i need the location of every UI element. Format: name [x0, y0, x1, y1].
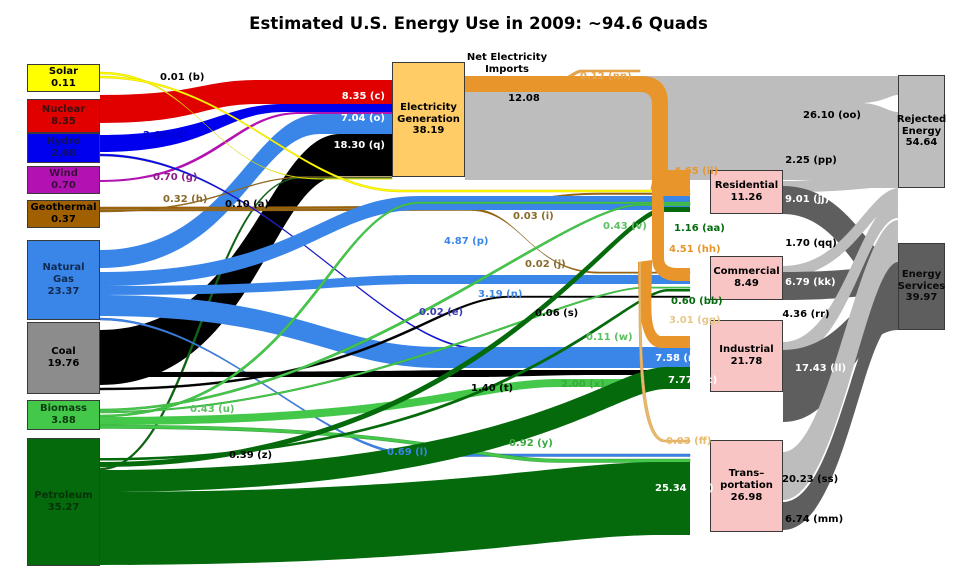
flow-coal-industrial [100, 370, 690, 377]
flow-label-c: 8.35 (c) [342, 91, 385, 102]
node-geothermal[interactable]: Geothermal 0.37 [27, 200, 100, 228]
node-commercial-label: Commercial 8.49 [713, 266, 779, 290]
flow-label-w: 0.11 (w) [586, 332, 633, 343]
node-wind-label: Wind 0.70 [49, 168, 78, 192]
node-transportation[interactable]: Trans– portation 26.98 [710, 440, 783, 532]
node-solar[interactable]: Solar 0.11 [27, 64, 100, 92]
flow-label-gg: 3.01 (gg) [669, 315, 721, 326]
flow-label-y: 0.92 (y) [509, 438, 553, 449]
flow-label-z: 0.39 (z) [229, 450, 272, 461]
node-geothermal-label: Geothermal 0.37 [30, 202, 96, 226]
node-transportation-label: Trans– portation 26.98 [720, 468, 773, 503]
node-residential-label: Residential 11.26 [715, 180, 778, 204]
node-biomass[interactable]: Biomass 3.88 [27, 400, 100, 430]
flow-label-oo: 26.10 (oo) [803, 110, 861, 121]
flow-label-b: 0.01 (b) [160, 72, 204, 83]
node-commercial[interactable]: Commercial 8.49 [710, 256, 783, 300]
flow-label-m: 7.58 (m) [655, 353, 703, 364]
node-nuclear[interactable]: Nuclear 8.35 [27, 99, 100, 133]
node-energy-services[interactable]: Energy Services 39.97 [898, 243, 945, 330]
flow-label-hh: 4.51 (hh) [669, 244, 721, 255]
flow-label-q: 18.30 (q) [334, 140, 385, 151]
flow-label-dd: 25.34 (dd) [655, 483, 714, 494]
flow-label-ss: 20.23 (ss) [782, 474, 838, 485]
flow-label-o: 7.04 (o) [341, 113, 385, 124]
node-rejected-energy-label: Rejected Energy 54.64 [897, 114, 946, 149]
flow-label-mm: 6.74 (mm) [785, 514, 843, 525]
node-coal-label: Coal 19.76 [48, 346, 80, 370]
flow-label-h: 0.32 (h) [163, 194, 207, 205]
flow-label-g: 0.70 (g) [153, 172, 197, 183]
node-nuclear-label: Nuclear 8.35 [42, 104, 85, 128]
node-hydro-label: Hydro 2.68 [47, 136, 81, 160]
flow-label-ll: 17.43 (ll) [795, 363, 846, 374]
node-industrial-label: Industrial 21.78 [719, 344, 773, 368]
node-hydro[interactable]: Hydro 2.68 [27, 133, 100, 163]
node-petroleum-label: Petroleum 35.27 [34, 490, 92, 514]
flow-label-t: 1.40 (t) [471, 383, 513, 394]
node-rejected-energy[interactable]: Rejected Energy 54.64 [898, 75, 945, 188]
node-natural-gas-label: Natural Gas 23.37 [42, 262, 84, 297]
flow-label-l: 0.69 (l) [387, 447, 428, 458]
flow-label-nn: 0.12 (nn) [580, 71, 632, 82]
flow-label-rr: 4.36 (rr) [782, 309, 829, 320]
flow-label-d: 2.66 (d) [143, 130, 187, 141]
flow-label-j: 0.02 (j) [525, 259, 566, 270]
flow-label-bb: 0.60 (bb) [671, 296, 723, 307]
flow-label-p: 4.87 (p) [444, 236, 488, 247]
flow-label-v: 0.43 (v) [603, 221, 647, 232]
flow-label-cc: 7.77 (cc) [668, 375, 717, 386]
flow-label-u: 0.43 (u) [190, 404, 234, 415]
net-electricity-imports-label: Net Electricity Imports [467, 52, 547, 76]
flow-label-kk: 6.79 (kk) [785, 277, 836, 288]
node-natural-gas[interactable]: Natural Gas 23.37 [27, 240, 100, 320]
node-energy-services-label: Energy Services 39.97 [898, 269, 946, 304]
sankey-diagram: Estimated U.S. Energy Use in 2009: ~94.6… [0, 0, 957, 583]
node-coal[interactable]: Coal 19.76 [27, 322, 100, 394]
flow-label-n: 3.19 (n) [478, 289, 522, 300]
flow-label-ff: 0.03 (ff) [666, 436, 711, 447]
node-electricity-generation[interactable]: Electricity Generation 38.19 [392, 62, 465, 177]
flow-label-s: 0.06 (s) [535, 308, 578, 319]
flow-label-e: 0.02 (e) [419, 307, 463, 318]
node-petroleum[interactable]: Petroleum 35.27 [27, 438, 100, 566]
node-industrial[interactable]: Industrial 21.78 [710, 320, 783, 392]
node-wind[interactable]: Wind 0.70 [27, 166, 100, 194]
node-biomass-label: Biomass 3.88 [40, 403, 87, 427]
flow-label-pp: 2.25 (pp) [785, 155, 837, 166]
flow-label-elec12: 12.08 [508, 93, 540, 104]
flow-label-a: 0.10 (a) [225, 199, 269, 210]
flow-label-qq: 1.70 (qq) [785, 238, 837, 249]
flow-label-aa: 1.16 (aa) [674, 223, 725, 234]
node-electricity-generation-label: Electricity Generation 38.19 [397, 102, 460, 137]
flow-label-i: 0.03 (i) [513, 211, 554, 222]
flow-label-jj: 9.01 (jj) [785, 194, 829, 205]
node-residential[interactable]: Residential 11.26 [710, 170, 783, 214]
flow-label-x: 2.00 (x) [561, 379, 605, 390]
flow-label-ii: 4.65 (ii) [674, 166, 718, 177]
node-solar-label: Solar 0.11 [49, 66, 78, 90]
